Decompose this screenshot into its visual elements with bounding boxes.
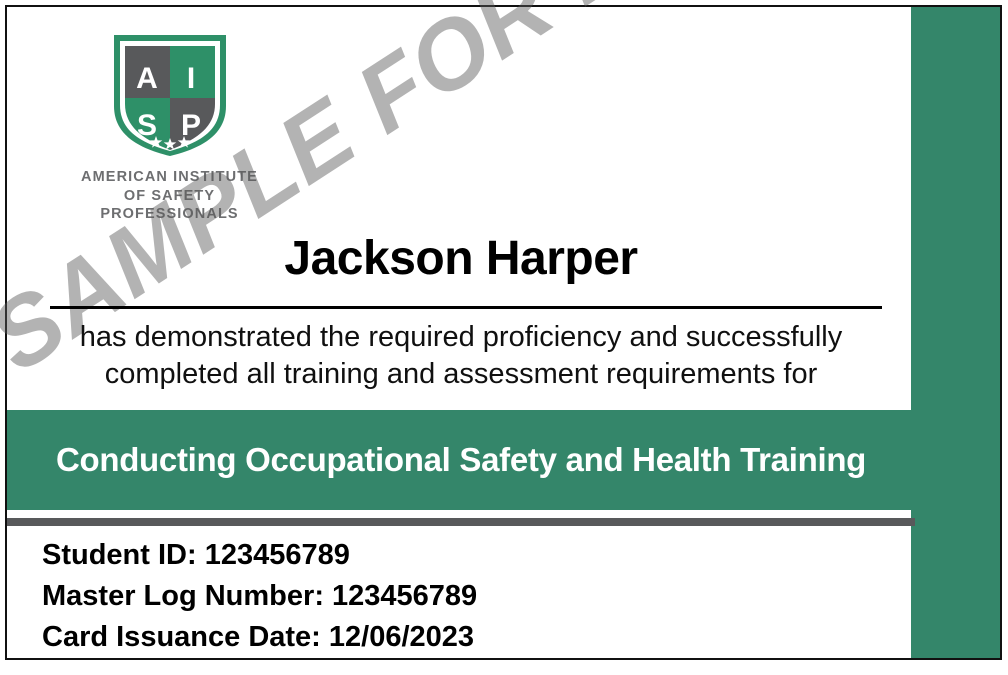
card-details-list: Student ID: 123456789 Master Log Number:… [42, 535, 742, 659]
green-side-bar [911, 7, 1000, 658]
aisp-shield-icon: A I S P [111, 32, 229, 156]
name-divider-rule [50, 306, 882, 309]
organization-name: AMERICAN INSTITUTE OF SAFETY PROFESSIONA… [62, 168, 277, 224]
svg-text:A: A [136, 62, 158, 95]
detail-master-log-number: Master Log Number: 123456789 [42, 576, 742, 617]
detail-student-id: Student ID: 123456789 [42, 535, 742, 576]
card-content-column: A I S P AMERICAN INSTITUTE OF SAFETY PRO… [7, 7, 915, 658]
certificate-card: A I S P AMERICAN INSTITUTE OF SAFETY PRO… [5, 5, 1002, 660]
detail-card-issuance-date: Card Issuance Date: 12/06/2023 [42, 617, 742, 658]
course-title: Conducting Occupational Safety and Healt… [32, 439, 890, 482]
certificate-card-root: A I S P AMERICAN INSTITUTE OF SAFETY PRO… [0, 0, 1008, 675]
svg-text:I: I [186, 62, 194, 95]
course-title-banner: Conducting Occupational Safety and Healt… [7, 410, 915, 510]
recipient-name: Jackson Harper [7, 235, 915, 283]
svg-text:S: S [136, 109, 156, 142]
achievement-statement: has demonstrated the required proficienc… [17, 319, 905, 393]
organization-logo-block: A I S P AMERICAN INSTITUTE OF SAFETY PRO… [62, 32, 277, 224]
gray-divider-bar [7, 518, 915, 526]
